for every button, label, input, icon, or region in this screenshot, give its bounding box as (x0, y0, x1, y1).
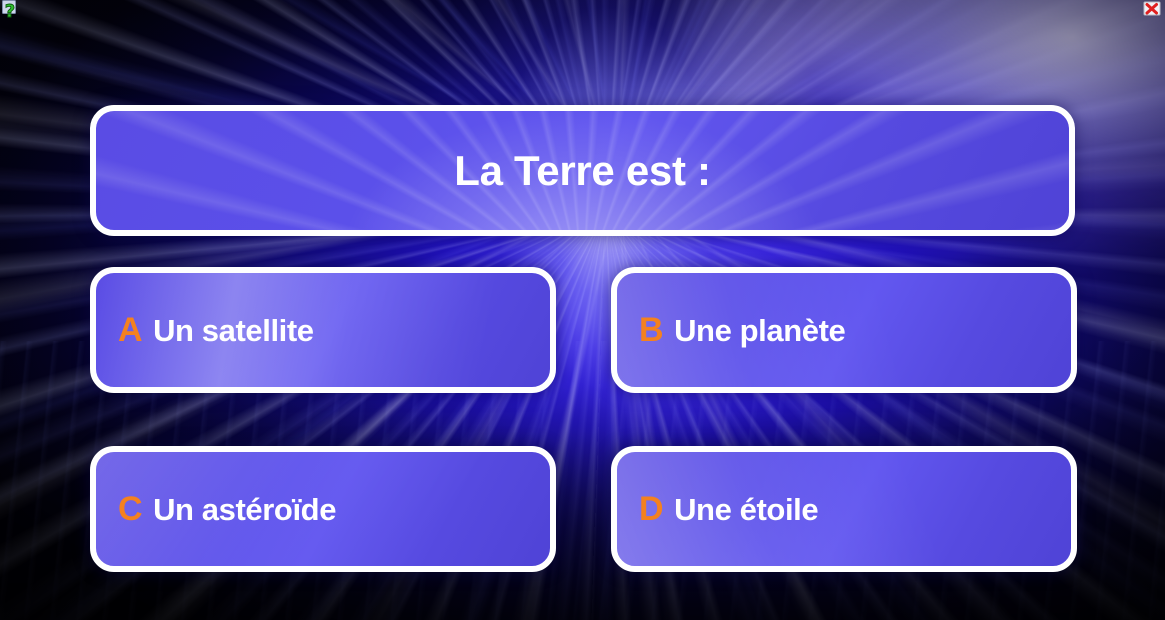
answer-b-content: B Une planète (617, 311, 845, 350)
answer-b-label: Une planète (674, 313, 845, 349)
answer-d-content: D Une étoile (617, 490, 818, 529)
answer-option-d[interactable]: D Une étoile (611, 446, 1077, 572)
question-text: La Terre est : (454, 147, 710, 195)
question-mark-icon[interactable]: ? (2, 0, 22, 20)
answer-a-label: Un satellite (153, 313, 314, 349)
quiz-screen: ? La Terre est : A Un satellite B Une pl… (0, 0, 1165, 620)
answer-a-letter: A (118, 311, 142, 350)
answer-c-content: C Un astéroïde (96, 490, 336, 529)
close-x-icon[interactable] (1142, 1, 1162, 21)
svg-text:?: ? (5, 1, 15, 20)
question-panel: La Terre est : (90, 105, 1075, 236)
answer-b-letter: B (639, 311, 663, 350)
answer-option-a[interactable]: A Un satellite (90, 267, 556, 393)
answer-c-letter: C (118, 490, 142, 529)
answer-option-b[interactable]: B Une planète (611, 267, 1077, 393)
answer-d-label: Une étoile (674, 492, 818, 528)
answer-a-content: A Un satellite (96, 311, 314, 350)
answer-d-letter: D (639, 490, 663, 529)
answer-c-label: Un astéroïde (153, 492, 336, 528)
answer-option-c[interactable]: C Un astéroïde (90, 446, 556, 572)
